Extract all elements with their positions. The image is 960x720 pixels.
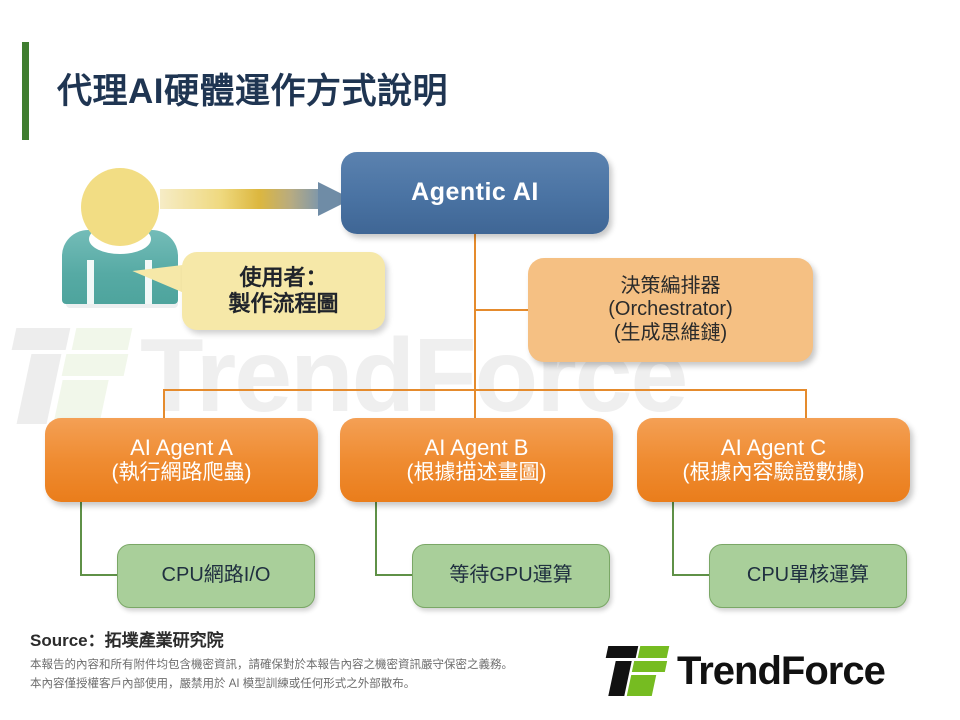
node-agentic-ai[interactable]: Agentic AI [341, 152, 609, 234]
connector-agent-b-to-res [375, 574, 413, 576]
trendforce-logo: TrendForce [607, 646, 937, 696]
disclaimer-line-2: 本內容僅授權客戶內部使用，嚴禁用於 AI 模型訓練或任何形式之外部散布。 [30, 675, 415, 691]
node-resource-c-label: CPU單核運算 [747, 564, 869, 588]
connector-to-agent-b [474, 389, 476, 419]
node-orchestrator-line1: 決策編排器 [621, 275, 721, 299]
user-callout-line2: 製作流程圖 [228, 291, 338, 317]
node-ai-agent-a[interactable]: AI Agent A (執行網路爬蟲) [45, 418, 318, 502]
node-resource-a[interactable]: CPU網路I/O [117, 544, 315, 608]
node-orchestrator-line3: (生成思維鏈) [614, 322, 727, 346]
connector-to-agent-c [805, 389, 807, 419]
connector-agent-a-drop [80, 502, 82, 576]
node-orchestrator[interactable]: 決策編排器 (Orchestrator) (生成思維鏈) [528, 258, 813, 362]
connector-agent-b-drop [375, 502, 377, 576]
title-accent-bar [22, 42, 29, 140]
node-orchestrator-line2: (Orchestrator) [608, 298, 732, 322]
node-ai-agent-c-subtitle: (根據內容驗證數據) [683, 461, 865, 486]
node-agentic-ai-label: Agentic AI [411, 178, 539, 208]
page-title: 代理AI硬體運作方式說明 [57, 63, 448, 114]
user-callout: 使用者： 製作流程圖 [182, 252, 385, 330]
connector-agent-c-drop [672, 502, 674, 576]
connector-to-agent-a [163, 389, 165, 419]
node-resource-a-label: CPU網路I/O [162, 564, 271, 588]
node-ai-agent-b-subtitle: (根據描述畫圖) [407, 461, 547, 486]
connector-agents-bus [163, 389, 807, 391]
node-resource-c[interactable]: CPU單核運算 [709, 544, 907, 608]
source-label: Source：拓墣產業研究院 [30, 626, 224, 651]
trendforce-logo-text: TrendForce [677, 649, 885, 694]
node-ai-agent-c-title: AI Agent C [721, 435, 826, 461]
watermark-logo-mark [14, 328, 132, 424]
connector-agentic-to-orchestrator [474, 309, 530, 311]
disclaimer-line-1: 本報告的內容和所有附件均包含機密資訊，請確保對於本報告內容之機密資訊嚴守保密之義… [30, 656, 513, 672]
node-ai-agent-c[interactable]: AI Agent C (根據內容驗證數據) [637, 418, 910, 502]
node-resource-b-label: 等待GPU運算 [449, 564, 572, 588]
slide-canvas: TrendForce 代理AI硬體運作方式說明 Agentic AI 決策編排器… [0, 0, 960, 720]
trendforce-logo-mark [607, 646, 669, 696]
connector-agent-a-to-res [80, 574, 118, 576]
connector-agentic-vertical [474, 234, 476, 390]
user-callout-line1: 使用者： [239, 265, 327, 291]
node-ai-agent-a-title: AI Agent A [130, 435, 233, 461]
node-ai-agent-b[interactable]: AI Agent B (根據描述畫圖) [340, 418, 613, 502]
node-ai-agent-b-title: AI Agent B [425, 435, 529, 461]
connector-agent-c-to-res [672, 574, 710, 576]
node-ai-agent-a-subtitle: (執行網路爬蟲) [112, 461, 252, 486]
node-resource-b[interactable]: 等待GPU運算 [412, 544, 610, 608]
right-arrow-icon [160, 182, 354, 216]
